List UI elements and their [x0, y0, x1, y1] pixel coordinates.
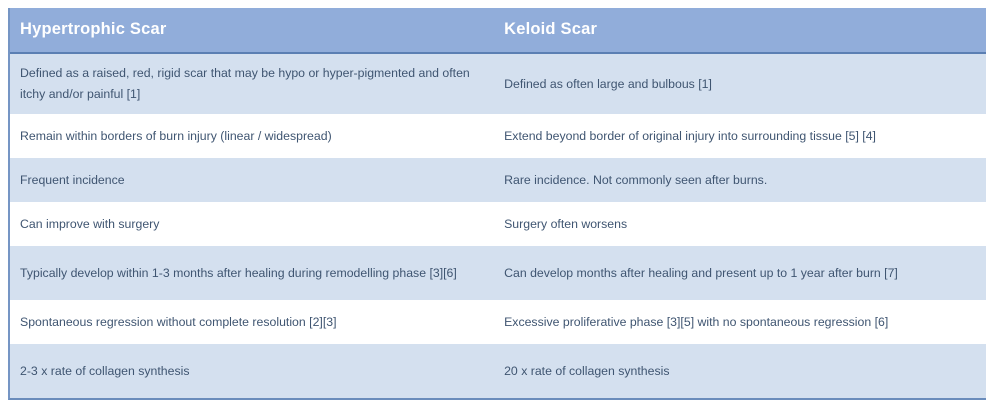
cell-keloid-definition: Defined as often large and bulbous [1] [494, 53, 986, 114]
cell-hypertrophic-collagen-rate: 2-3 x rate of collagen synthesis [10, 344, 494, 398]
cell-text: Spontaneous regression without complete … [20, 312, 482, 333]
cell-text: Defined as a raised, red, rigid scar tha… [20, 63, 482, 105]
cell-hypertrophic-surgery: Can improve with surgery [10, 202, 494, 246]
cell-text: Rare incidence. Not commonly seen after … [504, 170, 974, 191]
cell-text: Surgery often worsens [504, 214, 974, 235]
comparison-table-container: Hypertrophic Scar Keloid Scar Defined as… [8, 8, 986, 400]
cell-text: 2-3 x rate of collagen synthesis [20, 361, 482, 382]
cell-keloid-incidence: Rare incidence. Not commonly seen after … [494, 158, 986, 202]
cell-text: Excessive proliferative phase [3][5] wit… [504, 312, 974, 333]
table-row: Frequent incidence Rare incidence. Not c… [10, 158, 986, 202]
cell-hypertrophic-definition: Defined as a raised, red, rigid scar tha… [10, 53, 494, 114]
cell-text: 20 x rate of collagen synthesis [504, 361, 974, 382]
table-row: Defined as a raised, red, rigid scar tha… [10, 53, 986, 114]
cell-text: Can develop months after healing and pre… [504, 263, 974, 284]
cell-text: Can improve with surgery [20, 214, 482, 235]
cell-hypertrophic-onset: Typically develop within 1-3 months afte… [10, 246, 494, 300]
header-row: Hypertrophic Scar Keloid Scar [10, 8, 986, 53]
table-body: Defined as a raised, red, rigid scar tha… [10, 53, 986, 398]
column-header-keloid-scar: Keloid Scar [494, 8, 986, 53]
table-row: Can improve with surgery Surgery often w… [10, 202, 986, 246]
cell-keloid-borders: Extend beyond border of original injury … [494, 114, 986, 158]
cell-text: Remain within borders of burn injury (li… [20, 126, 482, 147]
column-header-hypertrophic-scar: Hypertrophic Scar [10, 8, 494, 53]
cell-keloid-regression: Excessive proliferative phase [3][5] wit… [494, 300, 986, 344]
cell-hypertrophic-incidence: Frequent incidence [10, 158, 494, 202]
scar-comparison-table: Hypertrophic Scar Keloid Scar Defined as… [10, 8, 986, 398]
table-header: Hypertrophic Scar Keloid Scar [10, 8, 986, 53]
cell-text: Defined as often large and bulbous [1] [504, 74, 974, 95]
table-row: Typically develop within 1-3 months afte… [10, 246, 986, 300]
cell-hypertrophic-regression: Spontaneous regression without complete … [10, 300, 494, 344]
table-row: 2-3 x rate of collagen synthesis 20 x ra… [10, 344, 986, 398]
cell-text: Extend beyond border of original injury … [504, 126, 974, 147]
cell-keloid-collagen-rate: 20 x rate of collagen synthesis [494, 344, 986, 398]
cell-text: Typically develop within 1-3 months afte… [20, 263, 482, 284]
cell-keloid-onset: Can develop months after healing and pre… [494, 246, 986, 300]
cell-hypertrophic-borders: Remain within borders of burn injury (li… [10, 114, 494, 158]
table-row: Remain within borders of burn injury (li… [10, 114, 986, 158]
cell-keloid-surgery: Surgery often worsens [494, 202, 986, 246]
table-row: Spontaneous regression without complete … [10, 300, 986, 344]
cell-text: Frequent incidence [20, 170, 482, 191]
